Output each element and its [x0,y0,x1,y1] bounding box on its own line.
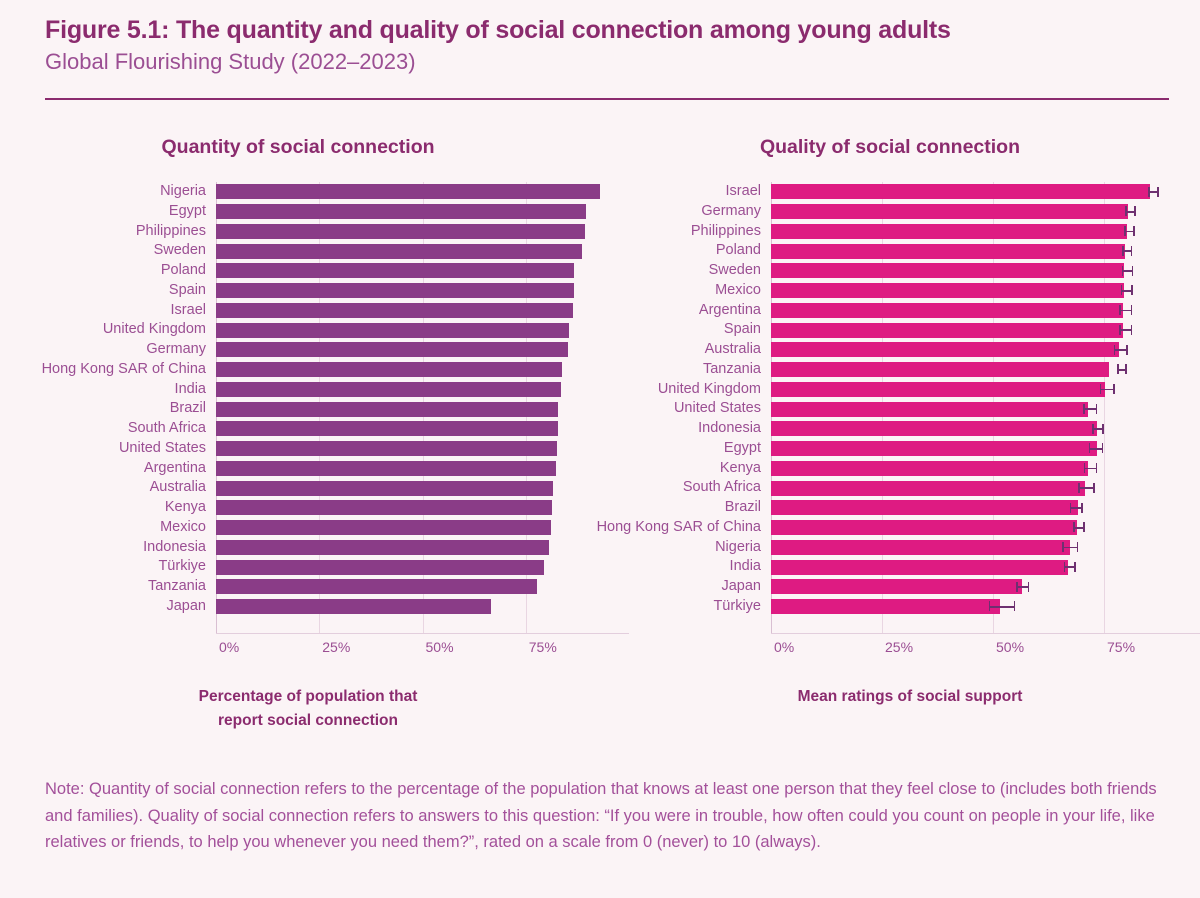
error-bar-cap [1122,266,1124,276]
error-bar-cap [1096,463,1098,473]
error-bar-cap [1122,246,1124,256]
x-axis-caption: Mean ratings of social support [640,685,1180,709]
error-bar-cap [1117,364,1119,374]
bar [771,560,1068,575]
error-bar-cap [1074,562,1076,572]
error-bar-cap [1119,305,1121,315]
bar [216,362,562,377]
quality-chart-title: Quality of social connection [600,132,1180,162]
bar-track [771,478,1200,498]
category-label: Germany [26,340,206,360]
bar [771,303,1123,318]
error-bar-cap [1102,443,1104,453]
bar [216,481,553,496]
x-axis-caption-line: report social connection [48,709,568,733]
bar [771,362,1109,377]
bar [771,461,1088,476]
error-bar-cap [1131,305,1133,315]
bar [771,244,1125,259]
bar-row: Argentina [600,301,1192,321]
bar [771,204,1128,219]
category-label: Nigeria [561,538,761,558]
bar-track [771,202,1200,222]
category-label: Japan [26,597,206,617]
x-tick-label: 25% [885,639,913,655]
error-bar-cap [1102,424,1104,434]
bar-row: Egypt [8,202,608,222]
bar-row: Japan [600,577,1192,597]
error-bar-cap [1148,187,1150,197]
x-axis-caption-line: Percentage of population that [48,685,568,709]
error-bar-cap [1119,325,1121,335]
bar-row: Nigeria [8,182,608,202]
x-axis-caption: Percentage of population thatreport soci… [48,685,568,733]
quality-chart-panel: Quality of social connection IsraelGerma… [600,132,1192,614]
bar [216,579,537,594]
bar-row: India [600,557,1192,577]
category-label: Mexico [26,518,206,538]
bar-row: Mexico [600,281,1192,301]
error-bar-cap [1125,364,1127,374]
bar-row: Argentina [8,459,608,479]
category-label: South Africa [26,419,206,439]
category-label: Spain [561,320,761,340]
category-label: Egypt [26,202,206,222]
error-bar-cap [1078,483,1080,493]
bar [216,303,573,318]
bar-row: Hong Kong SAR of China [600,518,1192,538]
bar-row: United Kingdom [8,320,608,340]
bar [771,421,1097,436]
bar-track [771,360,1200,380]
category-label: Mexico [561,281,761,301]
bar-row: Philippines [600,222,1192,242]
error-bar-cap [1125,206,1127,216]
category-label: Brazil [561,498,761,518]
error-bar-cap [1093,483,1095,493]
error-bar-cap [989,601,991,611]
bar-row: Australia [8,478,608,498]
bar-row: Türkiye [600,597,1192,617]
bar [771,441,1097,456]
category-label: Argentina [26,459,206,479]
x-axis-caption-line: Mean ratings of social support [640,685,1180,709]
bar-row: Kenya [8,498,608,518]
bar [771,402,1088,417]
category-label: Hong Kong SAR of China [26,360,206,380]
x-tick-label: 75% [1107,639,1135,655]
error-bar-line [989,606,1016,608]
bar-row: Brazil [8,399,608,419]
bar-track [771,222,1200,242]
category-label: Indonesia [26,538,206,558]
bar-track [771,498,1200,518]
bar [771,184,1150,199]
category-label: Kenya [561,459,761,479]
bar [771,283,1124,298]
bar [216,204,586,219]
bar [216,421,558,436]
bar-row: Mexico [8,518,608,538]
bar-track [771,380,1200,400]
error-bar-cap [1083,522,1085,532]
error-bar-cap [1064,562,1066,572]
error-bar-cap [1124,226,1126,236]
error-bar-cap [1126,345,1128,355]
bar-track [771,182,1200,202]
bar-track [771,419,1200,439]
x-axis-line [771,633,1200,634]
x-tick-label: 25% [322,639,350,655]
error-bar-cap [1131,285,1133,295]
bar-track [771,459,1200,479]
x-tick-label: 0% [774,639,794,655]
bar [216,224,585,239]
bar [216,599,491,614]
bar [216,520,551,535]
figure-note: Note: Quantity of social connection refe… [45,776,1163,856]
error-bar-cap [1132,266,1134,276]
bar [216,402,558,417]
bar-track [771,439,1200,459]
error-bar-cap [1100,384,1102,394]
category-label: Philippines [26,222,206,242]
bar [771,540,1070,555]
bar [771,263,1124,278]
category-label: Australia [26,478,206,498]
category-label: Türkiye [26,557,206,577]
bar [216,461,556,476]
x-tick-label: 50% [996,639,1024,655]
error-bar-cap [1089,443,1091,453]
bar-row: India [8,380,608,400]
bar [216,342,568,357]
bar-row: Brazil [600,498,1192,518]
error-bar-cap [1096,404,1098,414]
figure-header: Figure 5.1: The quantity and quality of … [45,16,1170,77]
error-bar-cap [1113,384,1115,394]
category-label: United States [561,399,761,419]
bar [771,323,1123,338]
bar-track [771,538,1200,558]
bar-row: Egypt [600,439,1192,459]
bar [771,500,1078,515]
error-bar-cap [1134,206,1136,216]
bar-row: United States [8,439,608,459]
bar-row: Kenya [600,459,1192,479]
bar-row: Poland [600,241,1192,261]
bar-row: Poland [8,261,608,281]
header-divider [45,98,1169,100]
bar-track [771,399,1200,419]
bar-track [771,597,1200,617]
error-bar-cap [1070,503,1072,513]
error-bar-cap [1028,582,1030,592]
bar-row: Nigeria [600,538,1192,558]
error-bar-cap [1092,424,1094,434]
bar-track [771,320,1200,340]
error-bar-cap [1114,345,1116,355]
error-bar-cap [1077,542,1079,552]
category-label: United States [26,439,206,459]
bar-row: South Africa [8,419,608,439]
bar [771,481,1085,496]
bar [771,382,1105,397]
x-tick-label: 75% [529,639,557,655]
bar-row: Indonesia [600,419,1192,439]
category-label: India [26,380,206,400]
error-bar-cap [1014,601,1016,611]
bar-track [771,241,1200,261]
error-bar-cap [1016,582,1018,592]
category-label: Sweden [561,261,761,281]
error-bar-cap [1133,226,1135,236]
category-label: Israel [26,301,206,321]
figure-page: Figure 5.1: The quantity and quality of … [0,0,1200,898]
bar-row: Hong Kong SAR of China [8,360,608,380]
bar [216,540,549,555]
bar-track [771,301,1200,321]
bar-row: Israel [600,182,1192,202]
category-label: Australia [561,340,761,360]
bar-row: Germany [600,202,1192,222]
category-label: Israel [561,182,761,202]
bar-track [771,557,1200,577]
bar-track [771,261,1200,281]
category-label: South Africa [561,478,761,498]
error-bar-cap [1121,285,1123,295]
error-bar-cap [1073,522,1075,532]
error-bar-cap [1157,187,1159,197]
bar-row: United Kingdom [600,380,1192,400]
bar [216,323,569,338]
figure-subtitle: Global Flourishing Study (2022–2023) [45,48,1170,77]
bar [771,599,1000,614]
bar-row: Australia [600,340,1192,360]
category-label: Tanzania [561,360,761,380]
error-bar-cap [1131,325,1133,335]
bar-rows: NigeriaEgyptPhilippinesSwedenPolandSpain… [8,182,608,617]
bar-track [771,577,1200,597]
quality-plot-area: IsraelGermanyPhilippinesPolandSwedenMexi… [600,182,1192,614]
category-label: Philippines [561,222,761,242]
quantity-chart-panel: Quantity of social connection NigeriaEgy… [8,132,608,614]
bar-track [771,281,1200,301]
bar [216,560,544,575]
x-tick-label: 0% [219,639,239,655]
x-tick-label: 50% [426,639,454,655]
bar [771,224,1127,239]
bar-row: United States [600,399,1192,419]
error-bar-cap [1081,503,1083,513]
category-label: United Kingdom [561,380,761,400]
bar [216,263,574,278]
bar-row: Israel [8,301,608,321]
category-label: Spain [26,281,206,301]
bar-track [771,340,1200,360]
error-bar-cap [1083,404,1085,414]
bar-track [771,518,1200,538]
bar-row: South Africa [600,478,1192,498]
bar-row: Spain [600,320,1192,340]
category-label: Tanzania [26,577,206,597]
error-bar-cap [1062,542,1064,552]
category-label: Japan [561,577,761,597]
bar-rows: IsraelGermanyPhilippinesPolandSwedenMexi… [600,182,1192,617]
category-label: Poland [561,241,761,261]
category-label: Indonesia [561,419,761,439]
category-label: Argentina [561,301,761,321]
category-label: Sweden [26,241,206,261]
category-label: Poland [26,261,206,281]
bar-row: Germany [8,340,608,360]
bar-row: Sweden [600,261,1192,281]
figure-title: Figure 5.1: The quantity and quality of … [45,16,1170,44]
bar-row: Sweden [8,241,608,261]
category-label: Nigeria [26,182,206,202]
x-axis-line [216,633,629,634]
bar-row: Tanzania [600,360,1192,380]
category-label: Hong Kong SAR of China [561,518,761,538]
bar [216,441,557,456]
quantity-plot-area: NigeriaEgyptPhilippinesSwedenPolandSpain… [8,182,608,614]
bar [216,244,582,259]
category-label: Türkiye [561,597,761,617]
bar-row: Philippines [8,222,608,242]
bar [771,520,1077,535]
bar-row: Japan [8,597,608,617]
category-label: United Kingdom [26,320,206,340]
bar-row: Indonesia [8,538,608,558]
quantity-chart-title: Quantity of social connection [8,132,588,162]
bar [216,283,574,298]
category-label: Germany [561,202,761,222]
error-bar-cap [1084,463,1086,473]
bar-row: Tanzania [8,577,608,597]
category-label: Brazil [26,399,206,419]
category-label: Kenya [26,498,206,518]
bar-row: Türkiye [8,557,608,577]
bar [216,184,600,199]
bar [216,382,561,397]
error-bar-cap [1131,246,1133,256]
bar-row: Spain [8,281,608,301]
bar [771,579,1022,594]
bar [216,500,552,515]
bar [771,342,1119,357]
category-label: Egypt [561,439,761,459]
category-label: India [561,557,761,577]
